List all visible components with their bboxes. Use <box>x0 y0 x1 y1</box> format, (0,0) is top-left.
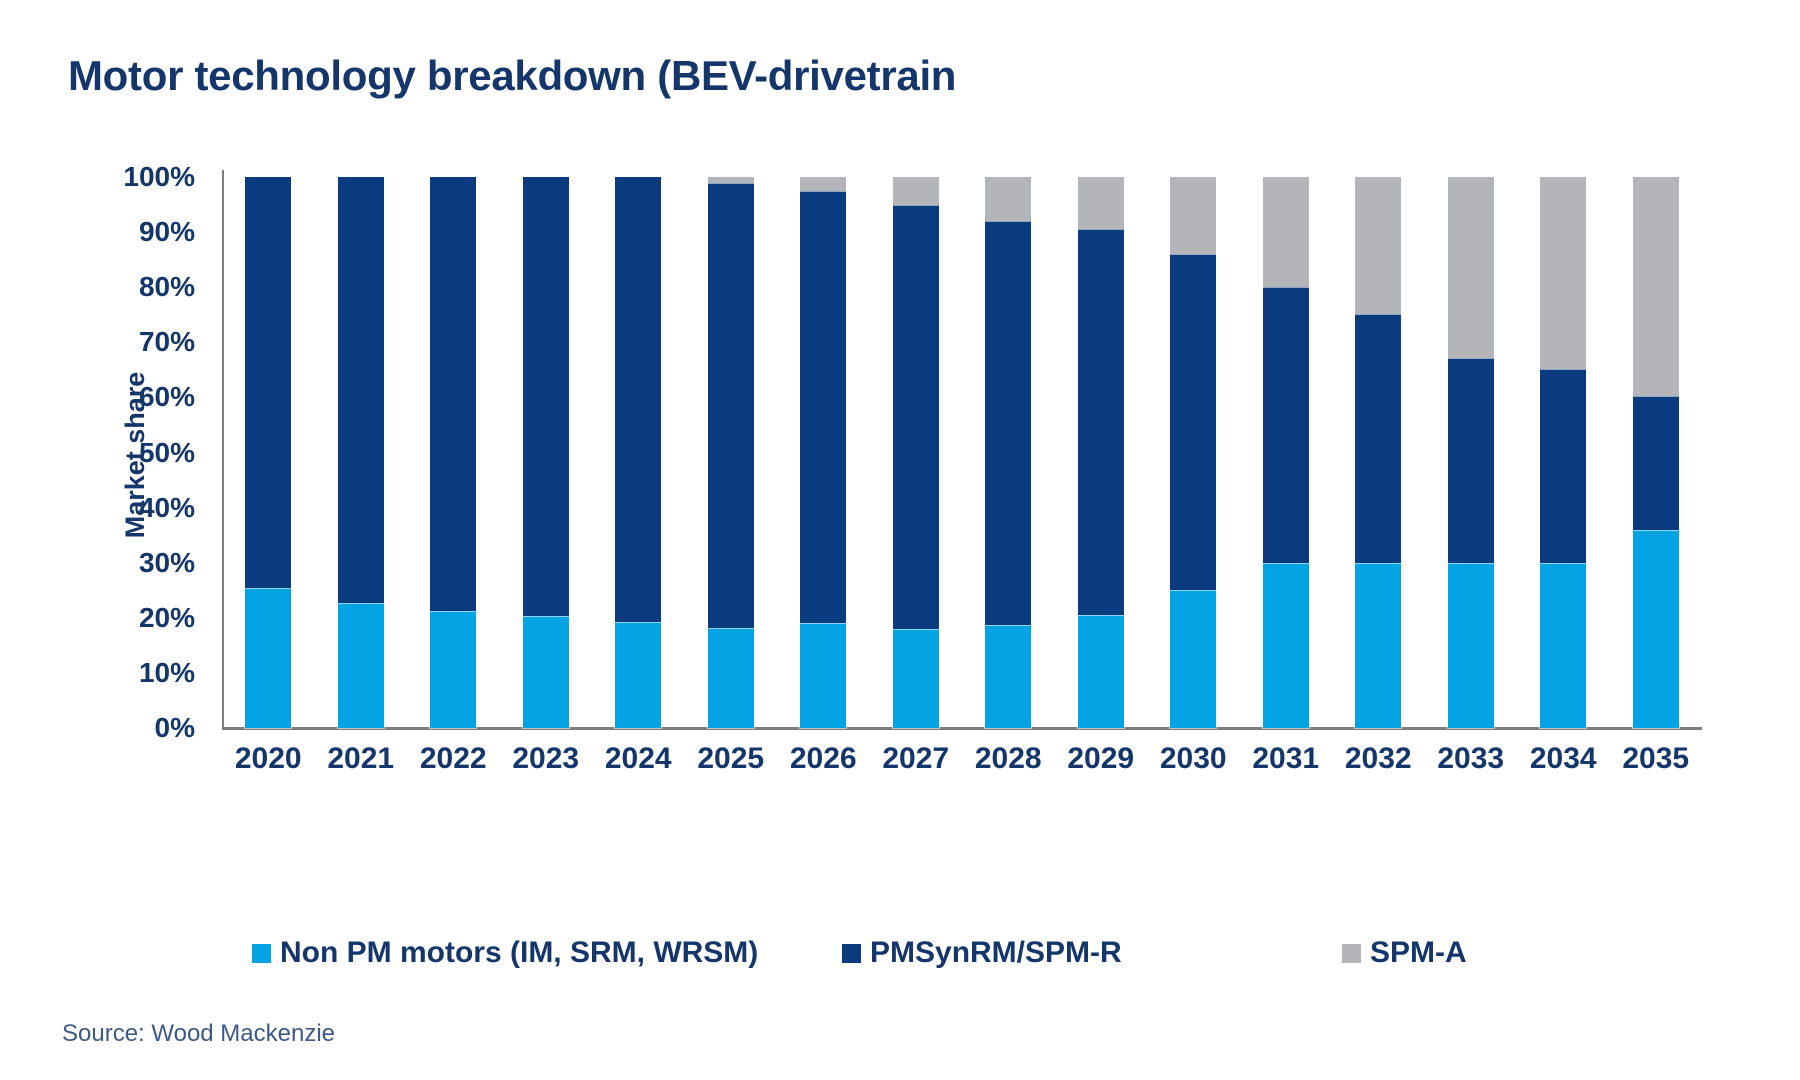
bar-segment[interactable] <box>1263 287 1309 563</box>
legend-label: Non PM motors (IM, SRM, WRSM) <box>280 938 758 968</box>
y-axis-tick: 10% <box>139 657 195 689</box>
y-axis-tick: 60% <box>139 381 195 413</box>
bar-column[interactable] <box>338 177 384 728</box>
y-axis-tick: 100% <box>123 161 195 193</box>
x-axis-tick: 2035 <box>1610 742 1703 776</box>
bar-segment[interactable] <box>1448 358 1494 563</box>
bar-segment[interactable] <box>893 629 939 728</box>
bar-segment[interactable] <box>985 177 1031 221</box>
y-axis-tick: 80% <box>139 271 195 303</box>
plot-area: Market share 0%10%20%30%40%50%60%70%80%9… <box>0 0 1800 1080</box>
x-axis-tick: 2026 <box>777 742 870 776</box>
source-caption: Source: Wood Mackenzie <box>62 1020 335 1048</box>
bar-segment[interactable] <box>708 177 754 183</box>
bar-segment[interactable] <box>1633 396 1679 530</box>
x-axis-tick: 2030 <box>1147 742 1240 776</box>
bar-segment[interactable] <box>1355 563 1401 728</box>
bar-column[interactable] <box>893 177 939 728</box>
bar-segment[interactable] <box>708 628 754 728</box>
bar-segment[interactable] <box>1170 254 1216 590</box>
bar-segment[interactable] <box>1448 177 1494 358</box>
y-axis-tick-labels: 0%10%20%30%40%50%60%70%80%90%100% <box>100 177 205 728</box>
x-axis-tick: 2027 <box>870 742 963 776</box>
bar-segment[interactable] <box>338 177 384 603</box>
bar-column[interactable] <box>1633 177 1679 728</box>
x-axis-tick: 2028 <box>962 742 1055 776</box>
bar-segment[interactable] <box>1540 177 1586 369</box>
x-axis-tick: 2023 <box>500 742 593 776</box>
bar-column[interactable] <box>800 177 846 728</box>
legend-label: PMSynRM/SPM-R <box>870 938 1122 968</box>
bar-segment[interactable] <box>800 191 846 624</box>
bar-segment[interactable] <box>1170 177 1216 254</box>
bar-segment[interactable] <box>245 177 291 587</box>
bar-segment[interactable] <box>985 221 1031 625</box>
x-axis-tick: 2021 <box>315 742 408 776</box>
bar-segment[interactable] <box>338 603 384 728</box>
legend-label: SPM-A <box>1370 938 1467 968</box>
y-axis-tick: 50% <box>139 437 195 469</box>
legend-item[interactable]: Non PM motors (IM, SRM, WRSM) <box>252 938 758 968</box>
legend-swatch-icon <box>842 944 861 963</box>
bar-segment[interactable] <box>708 183 754 628</box>
bar-segment[interactable] <box>523 616 569 728</box>
bar-segment[interactable] <box>615 622 661 728</box>
bar-column[interactable] <box>1170 177 1216 728</box>
bar-segment[interactable] <box>430 177 476 611</box>
x-axis-tick: 2022 <box>407 742 500 776</box>
bar-segment[interactable] <box>893 205 939 630</box>
bar-segment[interactable] <box>1355 177 1401 314</box>
bar-column[interactable] <box>1355 177 1401 728</box>
x-axis-tick: 2025 <box>685 742 778 776</box>
bar-segment[interactable] <box>893 177 939 205</box>
bar-segment[interactable] <box>1078 229 1124 615</box>
bar-segment[interactable] <box>1078 177 1124 229</box>
y-axis-tick: 30% <box>139 547 195 579</box>
legend-item[interactable]: SPM-A <box>1342 938 1467 968</box>
bar-column[interactable] <box>985 177 1031 728</box>
y-axis-tick: 90% <box>139 216 195 248</box>
x-axis-tick: 2034 <box>1517 742 1610 776</box>
bar-column[interactable] <box>1448 177 1494 728</box>
legend-item[interactable]: PMSynRM/SPM-R <box>842 938 1122 968</box>
bar-segment[interactable] <box>1355 314 1401 563</box>
x-axis-tick: 2029 <box>1055 742 1148 776</box>
bar-segment[interactable] <box>1633 530 1679 728</box>
bar-segment[interactable] <box>800 623 846 728</box>
bar-series-container <box>222 177 1702 728</box>
x-axis-tick: 2020 <box>222 742 315 776</box>
x-axis-tick: 2032 <box>1332 742 1425 776</box>
y-axis-tick: 20% <box>139 602 195 634</box>
bar-column[interactable] <box>523 177 569 728</box>
legend-swatch-icon <box>252 944 271 963</box>
x-axis-tick: 2033 <box>1425 742 1518 776</box>
chart-legend: Non PM motors (IM, SRM, WRSM)PMSynRM/SPM… <box>222 938 1702 984</box>
bar-column[interactable] <box>1078 177 1124 728</box>
bar-segment[interactable] <box>615 177 661 622</box>
bar-segment[interactable] <box>1170 590 1216 728</box>
bar-segment[interactable] <box>1263 563 1309 728</box>
bar-column[interactable] <box>245 177 291 728</box>
chart-page: Motor technology breakdown (BEV-drivetra… <box>0 0 1800 1080</box>
bar-segment[interactable] <box>1540 369 1586 563</box>
bar-segment[interactable] <box>985 625 1031 728</box>
bar-segment[interactable] <box>245 588 291 729</box>
bar-segment[interactable] <box>1448 563 1494 728</box>
bar-segment[interactable] <box>1263 177 1309 287</box>
x-axis-tick: 2031 <box>1240 742 1333 776</box>
x-axis-tick: 2024 <box>592 742 685 776</box>
bar-segment[interactable] <box>430 611 476 728</box>
bar-segment[interactable] <box>1078 615 1124 728</box>
bar-segment[interactable] <box>523 177 569 616</box>
y-axis-tick: 70% <box>139 326 195 358</box>
bar-column[interactable] <box>430 177 476 728</box>
legend-swatch-icon <box>1342 944 1361 963</box>
x-axis-tick-labels: 2020202120222023202420252026202720282029… <box>222 742 1702 792</box>
bar-column[interactable] <box>1263 177 1309 728</box>
bar-column[interactable] <box>1540 177 1586 728</box>
bar-column[interactable] <box>615 177 661 728</box>
bar-segment[interactable] <box>800 177 846 191</box>
bar-segment[interactable] <box>1633 177 1679 396</box>
y-axis-tick: 40% <box>139 492 195 524</box>
bar-segment[interactable] <box>1540 563 1586 728</box>
bar-column[interactable] <box>708 177 754 728</box>
y-axis-tick: 0% <box>155 712 195 744</box>
